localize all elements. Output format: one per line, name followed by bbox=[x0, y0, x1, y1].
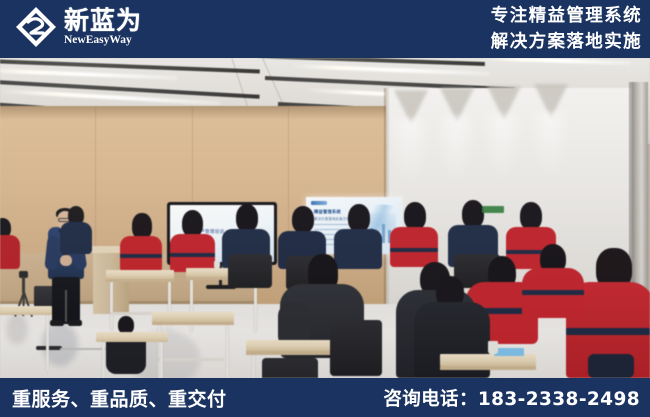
slogan-line-2: 解决方案落地实施 bbox=[491, 29, 642, 55]
desk bbox=[106, 270, 174, 279]
logo-english-name: NewEasyWay bbox=[64, 34, 142, 47]
exit-sign-icon bbox=[482, 206, 504, 213]
paper bbox=[494, 348, 524, 356]
promo-image-root: 精益生产管理培训 精益管理系统 解决方案落地实施方案介绍 bbox=[0, 0, 650, 417]
top-banner: 新蓝为 NewEasyWay 专注精益管理系统 解决方案落地实施 bbox=[0, 0, 650, 58]
bottom-banner: 重服务、重品质、重交付 咨询电话：183-2338-2498 bbox=[0, 378, 650, 417]
classroom-photo: 精益生产管理培训 精益管理系统 解决方案落地实施方案介绍 bbox=[0, 58, 650, 378]
header-slogan: 专注精益管理系统 解决方案落地实施 bbox=[491, 3, 642, 55]
chair bbox=[330, 320, 382, 376]
logo-chinese-name: 新蓝为 bbox=[64, 8, 142, 33]
desk bbox=[246, 340, 338, 351]
desk bbox=[0, 306, 52, 315]
chair bbox=[262, 358, 318, 378]
cup bbox=[214, 261, 220, 269]
desk bbox=[96, 332, 168, 342]
chair bbox=[228, 254, 272, 288]
desk bbox=[152, 312, 234, 322]
brand-logo[interactable]: 新蓝为 NewEasyWay bbox=[14, 5, 142, 49]
slogan-line-1: 专注精益管理系统 bbox=[491, 3, 642, 29]
audience-area bbox=[0, 58, 650, 378]
service-motto: 重服务、重品质、重交付 bbox=[12, 384, 227, 411]
contact-phone[interactable]: 咨询电话：183-2338-2498 bbox=[383, 385, 640, 411]
cup bbox=[488, 341, 498, 354]
rhombus-logo-icon bbox=[14, 5, 58, 49]
